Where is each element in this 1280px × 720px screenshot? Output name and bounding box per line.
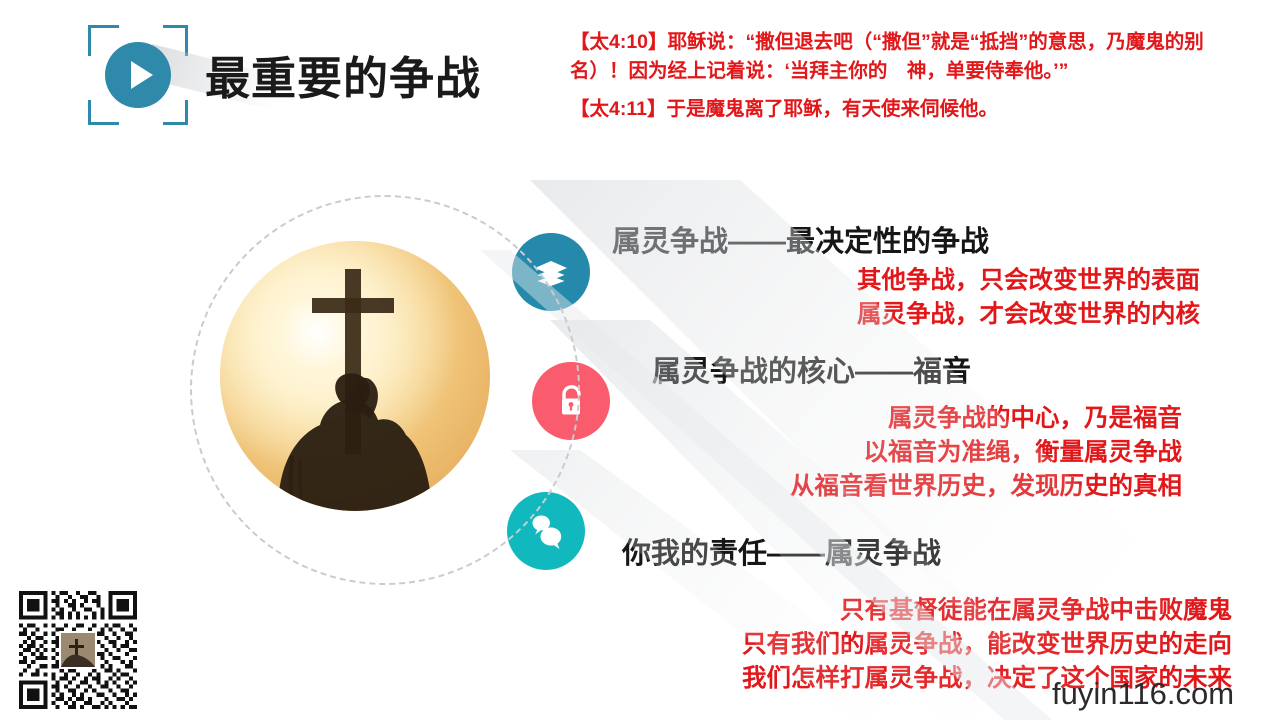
play-button-icon[interactable] xyxy=(105,42,171,108)
block-line: 以福音为准绳，衡量属灵争战 xyxy=(790,436,1182,470)
site-watermark: fuyin116.com xyxy=(1052,676,1234,712)
block-line: 只有基督徒能在属灵争战中击败魔鬼 xyxy=(742,594,1232,628)
brand-logo[interactable] xyxy=(88,25,188,125)
slide-canvas: 最重要的争战 【太4:10】耶稣说：“撒但退去吧（“撒但”就是“抵挡”的意思，乃… xyxy=(0,0,1280,720)
block-heading-2: 属灵争战的核心——福音 xyxy=(652,348,971,390)
block-lines-1: 其他争战，只会改变世界的表面 属灵争战，才会改变世界的内核 xyxy=(857,264,1200,332)
qr-code[interactable] xyxy=(19,591,137,709)
block-lines-2: 属灵争战的中心，乃是福音 以福音为准绳，衡量属灵争战 从福音看世界历史，发现历史… xyxy=(790,402,1182,503)
block-line: 属灵争战，才会改变世界的内核 xyxy=(857,298,1200,332)
scripture-quote: 【太4:10】耶稣说：“撒但退去吧（“撒但”就是“抵挡”的意思，乃魔鬼的别名）！… xyxy=(570,28,1260,124)
block-line: 其他争战，只会改变世界的表面 xyxy=(857,264,1200,298)
scripture-verse-11: 【太4:11】于是魔鬼离了耶稣，有天使来伺候他。 xyxy=(570,95,1260,124)
block-line: 属灵争战的中心，乃是福音 xyxy=(790,402,1182,436)
cross-silhouette-sunset-photo xyxy=(220,241,490,511)
scripture-verse-10: 【太4:10】耶稣说：“撒但退去吧（“撒但”就是“抵挡”的意思，乃魔鬼的别名）！… xyxy=(570,28,1260,86)
play-triangle-icon xyxy=(131,61,153,89)
block-heading-1: 属灵争战——最决定性的争战 xyxy=(612,218,989,260)
block-heading-3: 你我的责任——属灵争战 xyxy=(622,530,941,572)
photo-area xyxy=(190,195,580,585)
block-line: 只有我们的属灵争战，能改变世界历史的走向 xyxy=(742,628,1232,662)
block-line: 从福音看世界历史，发现历史的真相 xyxy=(790,470,1182,504)
cross-photo-thumbnail xyxy=(59,631,97,669)
slide-title: 最重要的争战 xyxy=(205,42,481,107)
